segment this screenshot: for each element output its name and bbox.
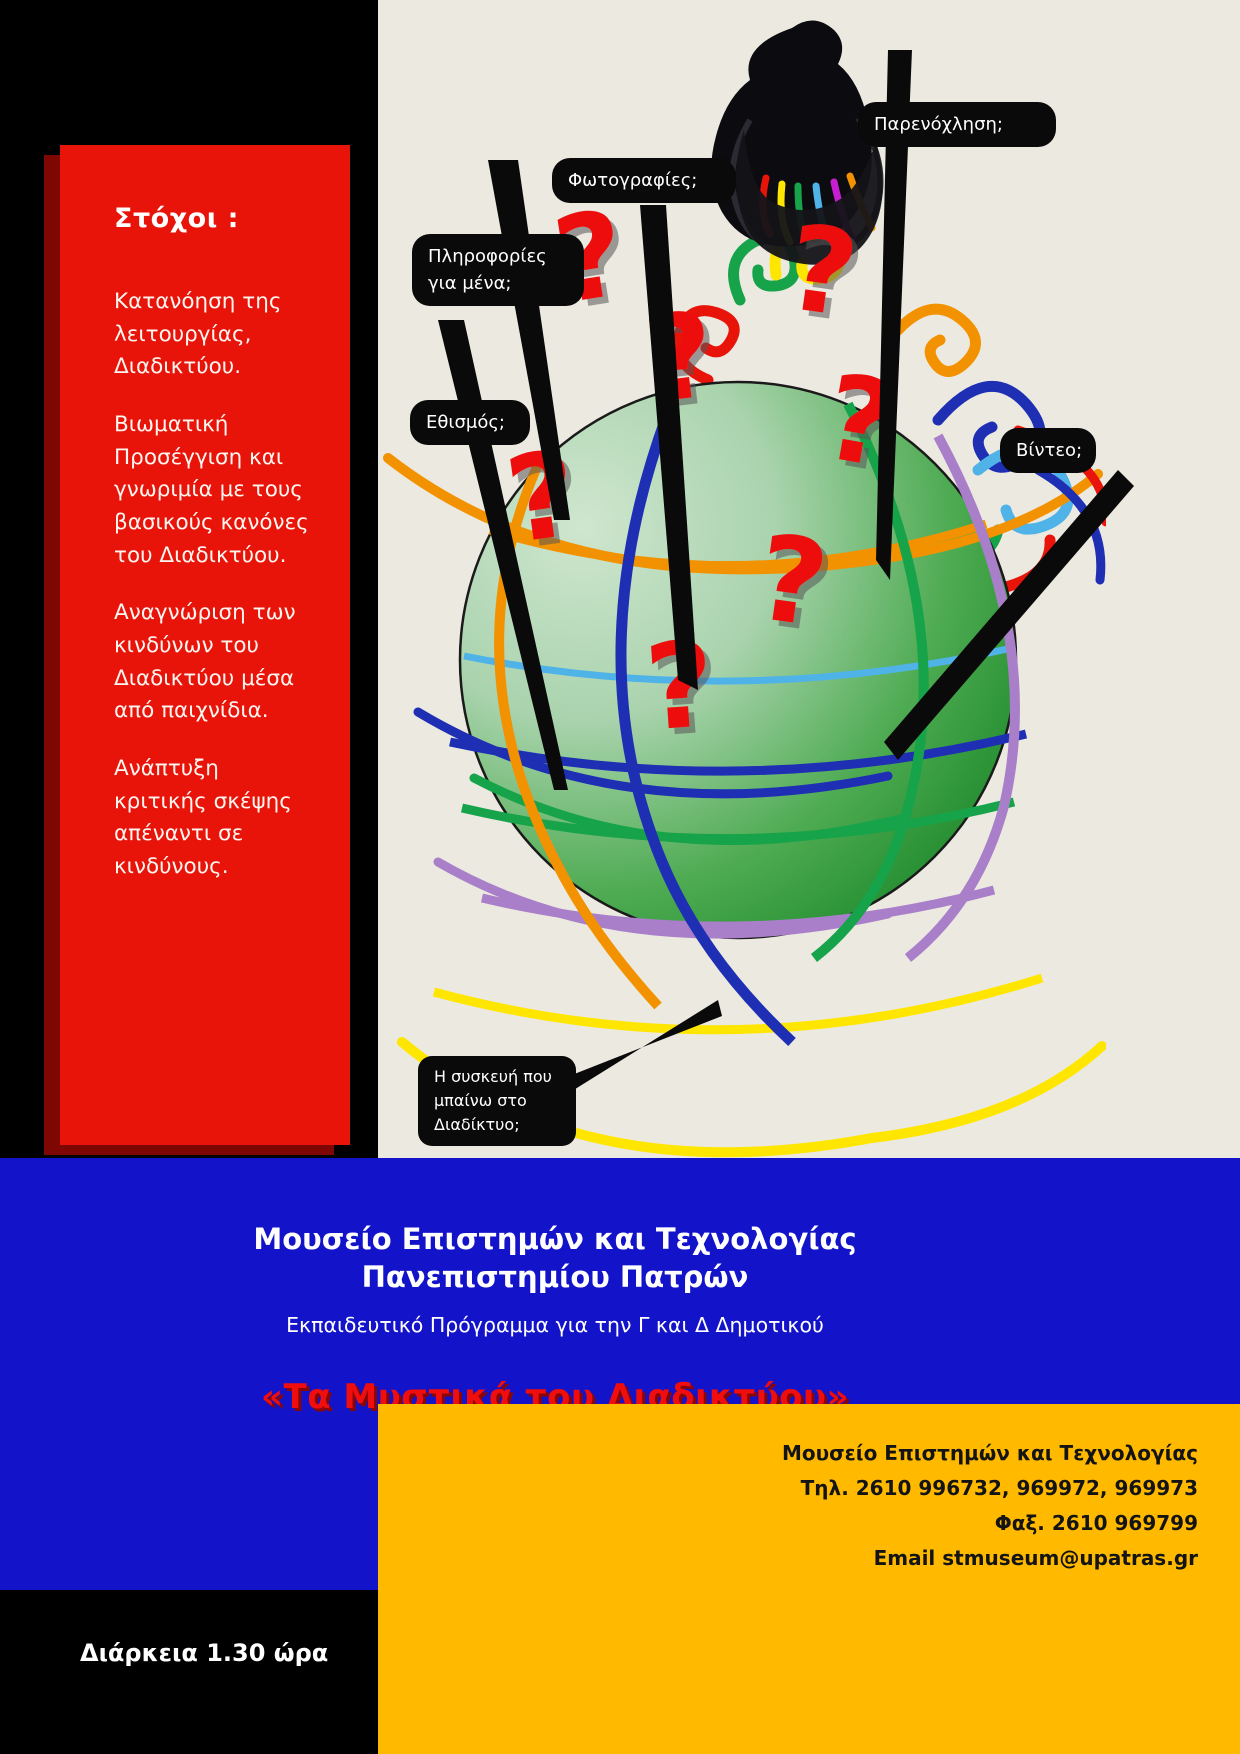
objectives-title: Στόχοι :	[114, 203, 316, 234]
bubble-vinteo-label: Βίντεο;	[1016, 440, 1082, 461]
bubble-syskevi[interactable]: Η συσκευή που μπαίνω στο Διαδίκτυο;	[418, 1056, 576, 1146]
bubble-vinteo[interactable]: Βίντεο;	[1000, 428, 1096, 473]
bubble-fotografies[interactable]: Φωτογραφίες;	[552, 158, 736, 203]
bubble-parenoxlisi-label: Παρενόχληση;	[874, 114, 1003, 135]
contact-phone[interactable]: Τηλ. 2610 996732, 969972, 969973	[378, 1471, 1198, 1506]
bubble-ethismos[interactable]: Εθισμός;	[410, 400, 530, 445]
objectives-panel: Στόχοι : Κατανόηση της λειτουργίας, Διαδ…	[60, 145, 350, 1145]
poster-canvas: ? ? ? ? ? ? ? Παρενόχλ	[0, 0, 1240, 1754]
objective-item-1: Κατανόηση της λειτουργίας, Διαδικτύου.	[114, 286, 316, 384]
bubble-fotografies-label: Φωτογραφίες;	[568, 170, 697, 191]
contact-fax: Φαξ. 2610 969799	[378, 1506, 1198, 1541]
bubble-plirofories[interactable]: Πληροφορίες για μένα;	[412, 234, 584, 306]
footer-org-line2: Πανεπιστημίου Πατρών	[362, 1260, 749, 1294]
contact-box: Μουσείο Επιστημών και Τεχνολογίας Τηλ. 2…	[378, 1404, 1240, 1754]
bubble-syskevi-label: Η συσκευή που μπαίνω στο Διαδίκτυο;	[434, 1067, 552, 1134]
contact-name: Μουσείο Επιστημών και Τεχνολογίας	[378, 1436, 1198, 1471]
objective-item-4: Ανάπτυξη κριτικής σκέψης απέναντι σε κιν…	[114, 753, 316, 884]
footer-programme: Εκπαιδευτικό Πρόγραμμα για την Γ και Δ Δ…	[0, 1313, 1240, 1337]
bubble-ethismos-label: Εθισμός;	[426, 412, 505, 433]
bubble-plirofories-label: Πληροφορίες για μένα;	[428, 246, 547, 294]
duration-label: Διάρκεια 1.30 ώρα	[80, 1639, 328, 1667]
bubble-parenoxlisi[interactable]: Παρενόχληση;	[858, 102, 1056, 147]
contact-email[interactable]: Email stmuseum@upatras.gr	[378, 1541, 1198, 1576]
objective-item-2: Βιωματική Προσέγγιση και γνωριμία με του…	[114, 409, 316, 572]
objective-item-3: Αναγνώριση των κινδύνων του Διαδικτύου μ…	[114, 597, 316, 728]
